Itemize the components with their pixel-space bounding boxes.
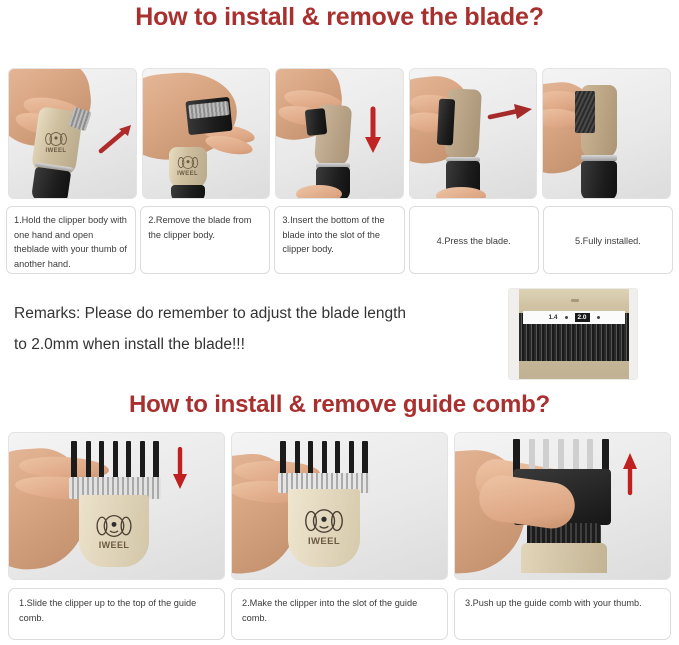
comb-tooth: [558, 439, 564, 469]
brand-name: IWEEL: [173, 171, 203, 177]
photo-removed-blade-in-palm: IWEEL: [142, 68, 271, 199]
caption-step-3: 3.Insert the bottom of the blade into th…: [274, 206, 404, 274]
dial-mark-2-0: 2.0: [575, 313, 590, 322]
clipper-handle: [171, 185, 205, 199]
comb-tooth: [71, 441, 77, 481]
comb-tooth: [140, 441, 145, 479]
brand-name: IWEEL: [39, 148, 73, 154]
brand-name: IWEEL: [296, 536, 352, 547]
dial-mark-1-4: 1.4: [548, 314, 557, 321]
clipper-handle: [31, 167, 71, 199]
comb-tooth: [86, 441, 91, 479]
comb-tooth: [349, 441, 354, 475]
page-title-blade: How to install & remove the blade?: [0, 2, 679, 32]
remarks-line-2: to 2.0mm when install the blade!!!: [14, 329, 504, 360]
comb-caption-row: 1.Slide the clipper up to the top of the…: [8, 588, 671, 640]
comb-tooth: [99, 441, 104, 479]
caption-comb-step-2: 2.Make the clipper into the slot of the …: [231, 588, 448, 640]
guide-comb-teeth: [280, 441, 368, 477]
comb-tooth: [153, 441, 159, 481]
comb-tooth: [513, 439, 520, 473]
comb-tooth: [362, 441, 368, 477]
photo-clipper-in-comb-slot: IWEEL: [231, 432, 448, 580]
photo-fully-installed: [542, 68, 671, 199]
arrow-down-icon: [360, 105, 386, 157]
comb-tooth: [322, 441, 327, 475]
instruction-sheet: How to install & remove the blade? IWEEL: [0, 0, 679, 645]
arrow-right-icon: [486, 101, 538, 127]
comb-tooth: [113, 441, 118, 479]
caption-comb-step-1: 1.Slide the clipper up to the top of the…: [8, 588, 225, 640]
comb-tooth: [295, 441, 300, 475]
dial-index-mark: [571, 299, 579, 302]
comb-tooth: [280, 441, 286, 477]
dial-dot-icon: [565, 316, 568, 319]
page-title-comb: How to install & remove guide comb?: [0, 390, 679, 420]
brand-mark: IWEEL: [296, 507, 352, 547]
arrow-up-icon: [617, 451, 643, 497]
arrow-down-icon: [167, 447, 193, 493]
blade-photo-strip: IWEEL: [8, 68, 671, 199]
brand-mark: IWEEL: [173, 155, 203, 177]
guide-comb-teeth: [71, 441, 159, 481]
dog-face-logo: [87, 513, 141, 539]
comb-tooth: [543, 439, 549, 469]
caption-step-5: 5.Fully installed.: [543, 206, 673, 274]
dog-face-logo: [39, 131, 73, 147]
remarks-block: Remarks: Please do remember to adjust th…: [14, 298, 504, 360]
comb-photo-strip: IWEEL: [8, 432, 671, 580]
comb-tooth: [335, 441, 340, 475]
blade-being-inserted: [305, 108, 328, 136]
comb-tooth: [529, 439, 535, 469]
brand-mark: IWEEL: [39, 131, 73, 154]
photo-press-blade: [409, 68, 538, 199]
caption-step-2: 2.Remove the blade from the clipper body…: [140, 206, 270, 274]
arrow-up-right-icon: [97, 121, 137, 155]
comb-tooth: [308, 441, 313, 475]
comb-tooth: [126, 441, 131, 479]
photo-push-up-guide-comb: [454, 432, 671, 580]
guide-comb-teeth: [513, 439, 609, 473]
brand-mark: IWEEL: [87, 513, 141, 550]
dog-face-logo: [296, 507, 352, 535]
photo-insert-blade: [275, 68, 404, 199]
caption-step-1: 1.Hold the clipper body with one hand an…: [6, 206, 136, 274]
photo-slide-clipper-into-comb: IWEEL: [8, 432, 225, 580]
brand-name: IWEEL: [87, 540, 141, 550]
blade-slot: [437, 99, 455, 146]
blade-length-dial: 1.4 2.0: [508, 288, 638, 380]
installed-blade: [575, 91, 595, 133]
clipper-body: [521, 543, 607, 573]
dial-dot-icon: [597, 316, 600, 319]
dial-scale: 1.4 2.0: [523, 311, 625, 324]
blade-caption-row: 1.Hold the clipper body with one hand an…: [6, 206, 673, 274]
clipper-handle: [581, 161, 617, 199]
finger-shape: [436, 187, 486, 199]
photo-open-blade: IWEEL: [8, 68, 137, 199]
comb-tooth: [602, 439, 609, 473]
caption-step-4: 4.Press the blade.: [409, 206, 539, 274]
comb-tooth: [573, 439, 579, 469]
remarks-line-1: Remarks: Please do remember to adjust th…: [14, 298, 504, 329]
dog-face-logo: [173, 155, 203, 170]
caption-comb-step-3: 3.Push up the guide comb with your thumb…: [454, 588, 671, 640]
finger-shape: [296, 185, 342, 199]
comb-tooth: [587, 439, 593, 469]
